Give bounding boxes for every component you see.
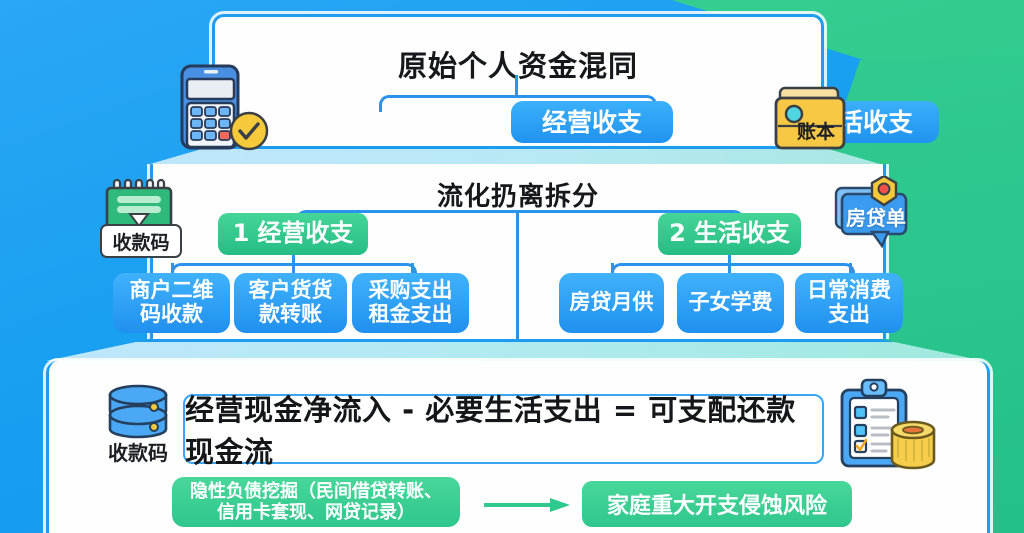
ledger-label: 账本 [786,117,846,144]
leaf-line2: 款转账 [259,302,322,326]
leaf-line1: 房贷月供 [570,291,654,315]
leaf-line2: 码收款 [140,302,203,326]
hidden-debt-line1: 隐性负债挖掘（民间借贷转账、 [190,481,442,502]
tier2-group-0-leaf-1[interactable]: 客户货货 款转账 [234,273,347,333]
mortgage-bill-label: 房贷单 [838,202,914,231]
tier2-title: 流化扔离拆分 [153,176,883,213]
leaf-line2: 支出 [828,302,870,326]
tier2-group-1-index: 2 [669,221,686,247]
hidden-debt-note[interactable]: 隐性负债挖掘（民间借贷转账、 信用卡套现、网贷记录） [172,477,460,527]
tier1-item-0[interactable]: 经营收支 [511,101,673,143]
leaf-line1: 日常消费 [807,278,891,302]
check-badge-icon [228,110,270,152]
leaf-line1: 子女学费 [689,291,773,315]
payment-code-label: 收款码 [100,224,182,258]
tier2-group-0-label: 经营收支 [257,221,353,247]
arrow-right-icon [484,498,570,512]
tier1-panel: 原始个人资金混同 经营收支 生活收支 [212,14,824,149]
hidden-debt-line2: 信用卡套现、网贷记录） [217,502,415,523]
tier2-group-0-leaf-0[interactable]: 商户二维 码收款 [113,273,230,333]
leaf-line1: 客户货货 [249,278,333,302]
tier2-group-1-leaf-0[interactable]: 房贷月供 [559,273,664,333]
infographic-canvas: 原始个人资金混同 经营收支 生活收支 流化扔离拆分 1 经营收支 2 生活收支 [0,0,1024,533]
formula-box: 经营现金净流入 - 必要生活支出 = 可支配还款现金流 [183,394,824,464]
database-icon [104,383,172,445]
tier2-group-1-leaf-2[interactable]: 日常消费 支出 [795,273,903,333]
family-expense-risk-note[interactable]: 家庭重大开支侵蚀风险 [582,481,852,527]
tier2-group-1-label: 生活收支 [694,221,790,247]
tier2-group-0-leaf-2[interactable]: 采购支出 租金支出 [352,273,469,333]
tier2-center-divider [516,210,519,339]
leaf-line1: 商户二维 [130,278,214,302]
clipboard-coins-icon [836,378,940,472]
tier1-stem [515,75,518,97]
database-label: 收款码 [98,437,178,466]
tier2-group-1-leaf-1[interactable]: 子女学费 [677,273,784,333]
leaf-line1: 采购支出 [369,278,453,302]
tier2-group-0-index: 1 [233,221,250,247]
tier2-group-0-head[interactable]: 1 经营收支 [218,213,368,255]
leaf-line2: 租金支出 [369,302,453,326]
tier1-title: 原始个人资金混同 [215,43,821,85]
tier2-group-1-head[interactable]: 2 生活收支 [658,213,801,255]
